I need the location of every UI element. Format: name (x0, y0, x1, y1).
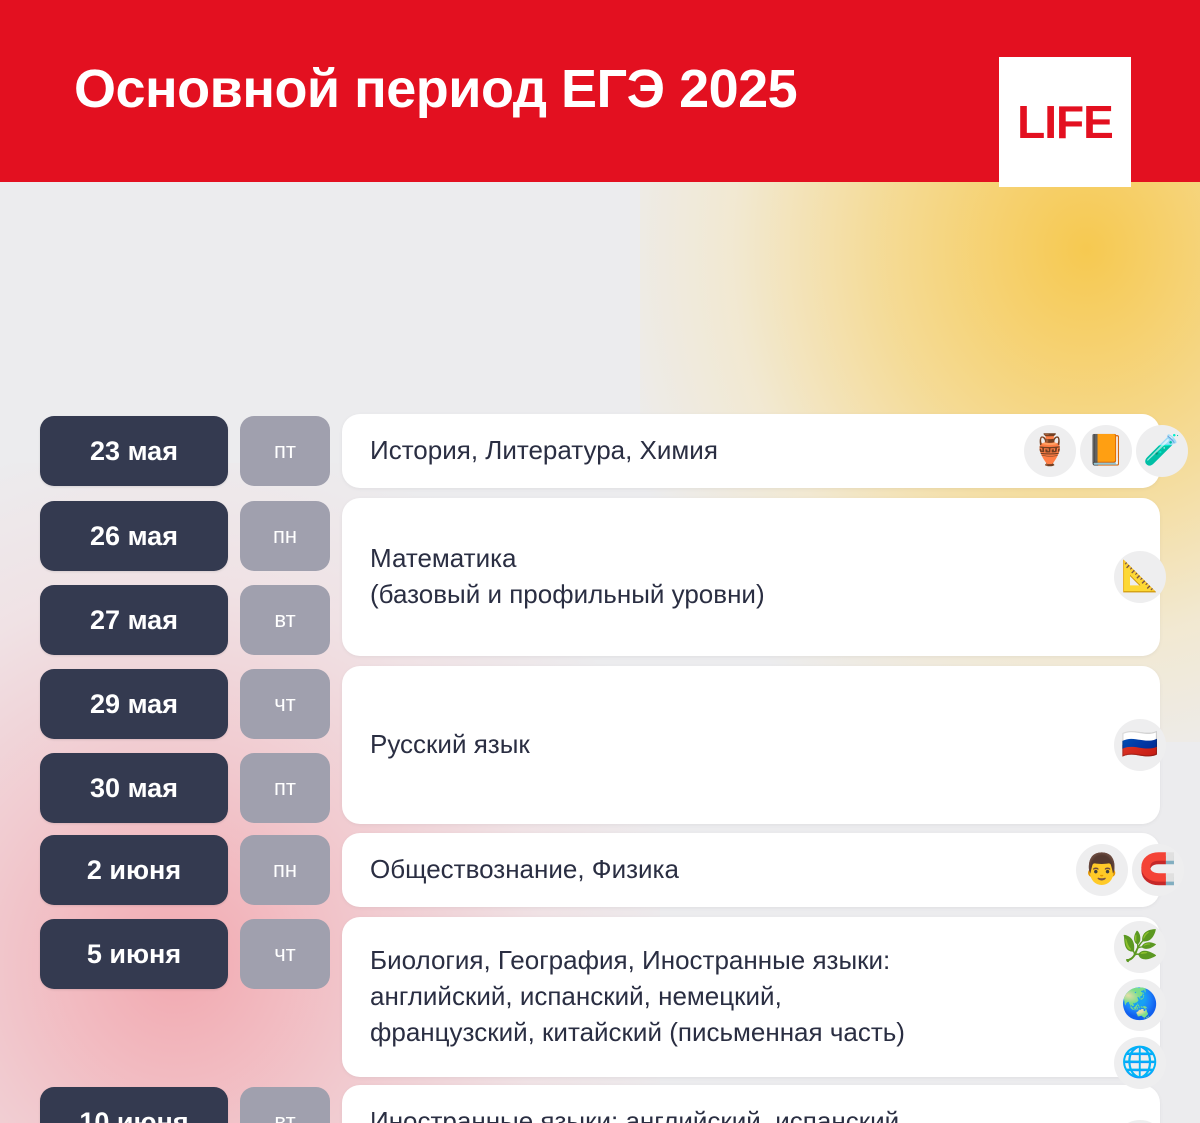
weekday-pill: вт (240, 1087, 330, 1123)
date-pill: 5 июня (40, 919, 228, 989)
test-tube-icon: 🧪 (1136, 425, 1188, 477)
subject-card: Русский язык (342, 666, 1160, 824)
page-title: Основной период ЕГЭ 2025 (74, 58, 797, 120)
earth-globe-icon: 🌏 (1114, 979, 1166, 1031)
weekday-pill: пн (240, 835, 330, 905)
subject-text: Иностранные языки: английский, испанский… (342, 1104, 1056, 1123)
subject-text: Биология, География, Иностранные языки: … (342, 943, 1055, 1051)
subject-card: Обществознание, Физика (342, 833, 1160, 907)
weekday-pill: чт (240, 669, 330, 739)
weekday-pill: пн (240, 501, 330, 571)
subject-card: Иностранные языки: английский, испанский… (342, 1085, 1160, 1123)
weekday-pill: пт (240, 416, 330, 486)
date-pill: 27 мая (40, 585, 228, 655)
weekday-pill: вт (240, 585, 330, 655)
man-icon: 👨 (1076, 844, 1128, 896)
triangular-ruler-icon: 📐 (1114, 551, 1166, 603)
subject-icon-group: 🇷🇺 (1114, 719, 1166, 771)
date-pill: 10 июня (40, 1087, 228, 1123)
subject-text: Математика (базовый и профильный уровни) (342, 541, 895, 613)
subject-text: Русский язык (342, 727, 660, 763)
subject-icon-group: 📐 (1114, 551, 1166, 603)
amphora-icon: 🏺 (1024, 425, 1076, 477)
infographic-poster: Основной период ЕГЭ 2025 LIFE 23 мая пт … (0, 0, 1200, 1123)
herb-icon: 🌿 (1114, 921, 1166, 973)
weekday-pill: пт (240, 753, 330, 823)
subject-text: Обществознание, Физика (342, 852, 809, 888)
weekday-pill: чт (240, 919, 330, 989)
date-pill: 2 июня (40, 835, 228, 905)
date-pill: 29 мая (40, 669, 228, 739)
subject-icon-group: 👨 🧲 (1076, 844, 1184, 896)
date-pill: 26 мая (40, 501, 228, 571)
life-logo: LIFE (999, 57, 1131, 187)
russia-flag-icon: 🇷🇺 (1114, 719, 1166, 771)
subject-card: Биология, География, Иностранные языки: … (342, 917, 1160, 1077)
date-pill: 30 мая (40, 753, 228, 823)
subject-icon-group: 🌿 🌏 🌐 (1114, 921, 1166, 1089)
life-logo-text: LIFE (1017, 99, 1113, 145)
subject-card: Математика (базовый и профильный уровни) (342, 498, 1160, 656)
subject-text: История, Литература, Химия (342, 433, 918, 469)
orange-book-icon: 📙 (1080, 425, 1132, 477)
globe-meridians-icon: 🌐 (1114, 1037, 1166, 1089)
magnet-icon: 🧲 (1132, 844, 1184, 896)
subject-icon-group: 🏺 📙 🧪 (1024, 425, 1188, 477)
date-pill: 23 мая (40, 416, 228, 486)
